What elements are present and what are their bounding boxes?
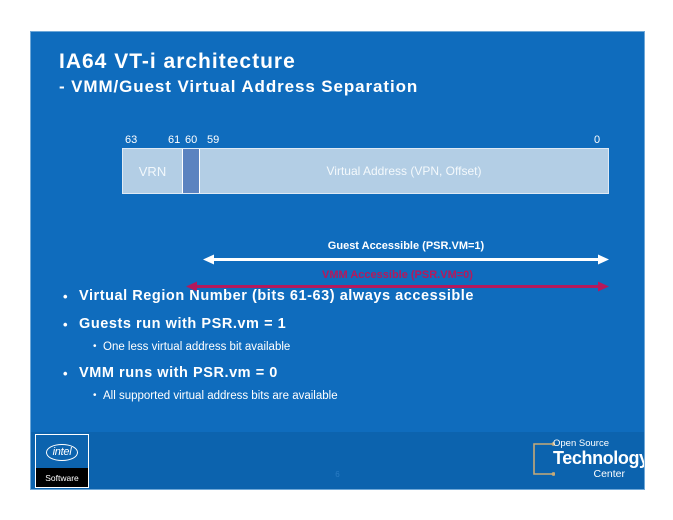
bit-label-row: 63 61 60 59 0 (122, 133, 609, 148)
intel-wordmark: intel (35, 440, 89, 464)
bullet-dot-icon: • (63, 315, 79, 334)
slide: IA64 VT-i architecture - VMM/Guest Virtu… (30, 31, 645, 490)
title-block: IA64 VT-i architecture - VMM/Guest Virtu… (59, 49, 619, 98)
bit-label-0: 0 (594, 133, 600, 148)
sub-bullet-item: • All supported virtual address bits are… (93, 388, 623, 404)
bit-label-59: 59 (207, 133, 219, 148)
guest-accessible-label: Guest Accessible (PSR.VM=1) (203, 239, 609, 253)
bullet-item: • Virtual Region Number (bits 61-63) alw… (63, 287, 623, 306)
page-number: 6 (31, 470, 644, 480)
bit-field-row: VRN Virtual Address (VPN, Offset) (122, 148, 609, 194)
vmm-accessible-label: VMM Accessible (PSR.VM=0) (186, 268, 609, 282)
guest-arrow-icon (203, 254, 609, 265)
sub-bullet-text: One less virtual address bit available (103, 339, 290, 355)
bullet-dot-icon: • (63, 364, 79, 383)
bullet-item: • Guests run with PSR.vm = 1 (63, 315, 623, 334)
field-vrn: VRN (123, 149, 183, 193)
bit-field-diagram: 63 61 60 59 0 VRN Virtual Address (VPN, … (122, 133, 609, 194)
page-subtitle: - VMM/Guest Virtual Address Separation (59, 76, 619, 98)
bit-label-60: 60 (185, 133, 197, 148)
sub-bullet-item: • One less virtual address bit available (93, 339, 623, 355)
bullet-item: • VMM runs with PSR.vm = 0 (63, 364, 623, 383)
bullet-text: Guests run with PSR.vm = 1 (79, 315, 286, 334)
bullet-dot-icon: • (63, 287, 79, 306)
field-bit-60 (183, 149, 200, 193)
guest-accessible-arrow: Guest Accessible (PSR.VM=1) (203, 239, 609, 265)
ostc-line-technology: Technology (553, 449, 631, 468)
field-vrn-label: VRN (139, 164, 166, 179)
bullet-text: Virtual Region Number (bits 61-63) alway… (79, 287, 474, 306)
bit-label-61: 61 (168, 133, 180, 148)
field-virtual-address-label: Virtual Address (VPN, Offset) (327, 164, 482, 178)
sub-bullet-text: All supported virtual address bits are a… (103, 388, 338, 404)
page-title: IA64 VT-i architecture (59, 49, 619, 74)
bit-label-63: 63 (125, 133, 137, 148)
bullet-list: • Virtual Region Number (bits 61-63) alw… (63, 287, 623, 413)
field-virtual-address: Virtual Address (VPN, Offset) (200, 149, 608, 193)
sub-bullet-dot-icon: • (93, 339, 103, 355)
intel-wordmark-text: intel (46, 444, 79, 461)
bullet-text: VMM runs with PSR.vm = 0 (79, 364, 278, 383)
sub-bullet-dot-icon: • (93, 388, 103, 404)
